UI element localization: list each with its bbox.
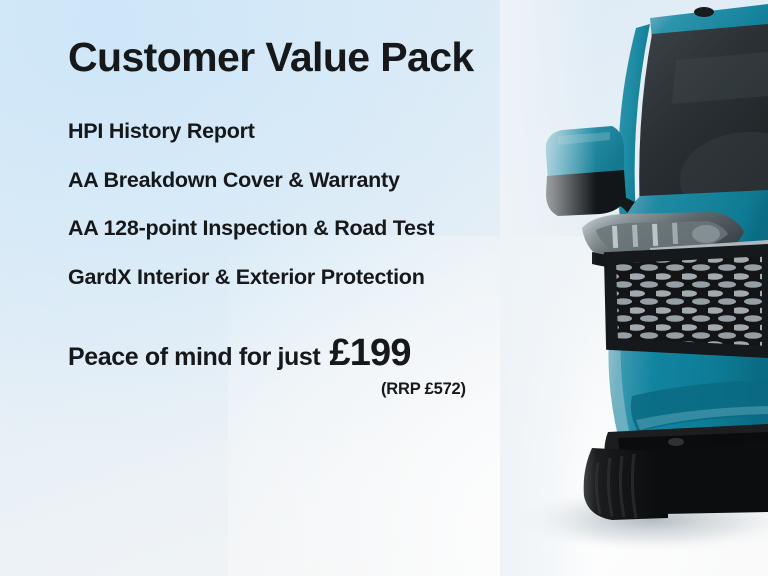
page-title: Customer Value Pack — [68, 36, 538, 79]
feature-list: HPI History Report AA Breakdown Cover & … — [68, 121, 538, 288]
price-rrp: (RRP £572) — [381, 380, 538, 399]
promo-banner: Customer Value Pack HPI History Report A… — [0, 0, 768, 576]
sensor — [668, 438, 684, 446]
promo-copy: Customer Value Pack HPI History Report A… — [68, 36, 538, 399]
antenna-base — [694, 7, 714, 17]
price-block: Peace of mind for just £199 (RRP £572) — [68, 332, 538, 399]
price-line: Peace of mind for just £199 — [68, 332, 538, 375]
list-item: HPI History Report — [68, 121, 538, 143]
underbody-shadow — [660, 442, 768, 514]
vehicle-image — [500, 0, 768, 576]
windscreen-reflection — [672, 52, 768, 104]
price-lead-text: Peace of mind for just — [68, 343, 320, 372]
list-item: AA Breakdown Cover & Warranty — [68, 170, 538, 192]
list-item: AA 128-point Inspection & Road Test — [68, 218, 538, 240]
price-amount: £199 — [329, 332, 410, 375]
list-item: GardX Interior & Exterior Protection — [68, 267, 538, 289]
